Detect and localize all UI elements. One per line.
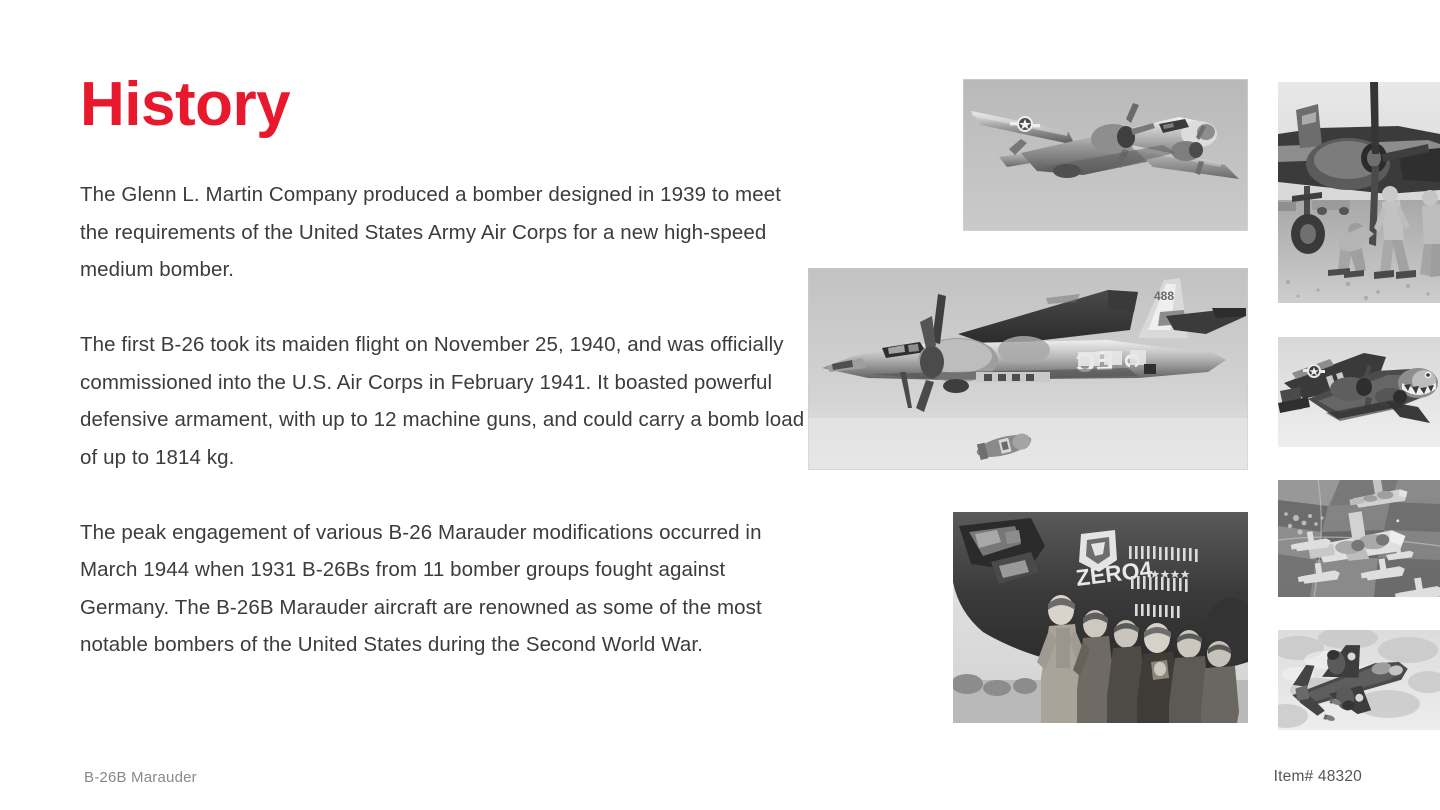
paragraph-origins: The Glenn L. Martin Company produced a b… — [80, 176, 810, 289]
footer-product-name: B-26B Marauder — [84, 769, 197, 786]
svg-text:488: 488 — [1154, 289, 1174, 303]
photo-b26-dropping-bombs-over-clouds — [1278, 630, 1440, 730]
paragraph-peak-engagement: The peak engagement of various B-26 Mara… — [80, 514, 810, 664]
page-title: History — [80, 72, 290, 137]
photo-ground-crew-walking-past-propeller — [1278, 82, 1440, 303]
photo-b26-in-flight-banking — [963, 79, 1248, 231]
body-text-column: The Glenn L. Martin Company produced a b… — [80, 176, 810, 664]
paragraph-first-flight: The first B-26 took its maiden flight on… — [80, 326, 810, 476]
photo-b26-shark-mouth-nose-art — [1278, 337, 1440, 447]
photo-b26-dropping-bomb: Ɔ Ǝ ᴒ 488 — [808, 268, 1248, 470]
slide-history: History The Glenn L. Martin Company prod… — [0, 0, 1440, 810]
footer-item-number: Item# 48320 — [1274, 768, 1362, 786]
photo-crew-posing-with-zero4-nose-art: ZERO4 — [953, 512, 1248, 723]
photo-b26-formation-over-farmland — [1278, 480, 1440, 597]
